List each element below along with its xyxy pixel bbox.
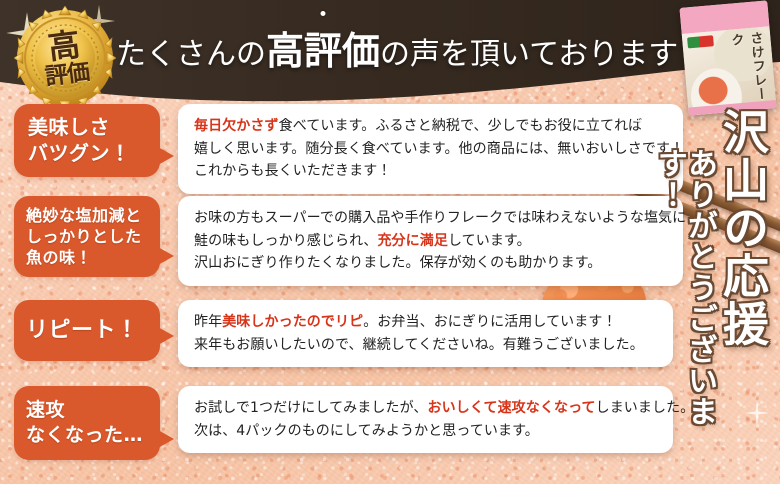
testimonial-line: 次は、4パックのものにしてみようかと思っています。 [194,420,659,443]
testimonial-row: 速攻 なくなった… お試しで1つだけにしてみましたが、おいしくて速攻なくなってし… [14,386,673,460]
testimonial-line: 沢山おにぎり作りたくなりました。保存が効くのも助かります。 [194,252,669,275]
testimonial-card: お試しで1つだけにしてみましたが、おいしくて速攻なくなってしまいました。 次は、… [178,386,673,453]
testimonial-text: これからも長くいただきます！ [194,163,391,179]
bubble-line: なくなった… [26,423,148,448]
testimonial-label-bubble: リピート！ [14,300,160,361]
testimonial-text: 鮭の味もしっかり感じられ、 [194,233,377,249]
testimonial-emphasis: 毎日欠かさず [194,118,279,134]
testimonial-card: 昨年美味しかったのでリピ。お弁当、おにぎりに活用しています！ 来年もお願いしたい… [178,300,673,367]
testimonial-text: 沢山おにぎり作りたくなりました。保存が効くのも助かります。 [194,255,602,271]
testimonial-row: 絶妙な塩加減と しっかりとした 魚の味！ お味の方もスーパーでの購入品や手作りフ… [14,196,683,286]
vertical-thanks-block: 沢山の応援 ありがとうございます！ [630,96,780,484]
testimonials-banner: 高 評価 たくさんの高評価の声を頂いております！ さけフレーク 美味しさ バツグ… [0,0,780,484]
testimonial-line: 嬉しく思います。随分長く食べています。他の商品には、無いおいしさです！ [194,138,669,161]
bubble-line: 魚の味！ [26,247,148,268]
bubble-line: 速攻 [26,398,148,423]
sparkle-icon [620,346,654,380]
testimonial-line: 来年もお願いしたいので、継続してくださいね。有難うございました。 [194,334,659,357]
testimonial-line: これからも長くいただきます！ [194,160,669,183]
testimonial-line: 鮭の味もしっかり感じられ、充分に満足しています。 [194,230,669,253]
testimonial-label-bubble: 絶妙な塩加減と しっかりとした 魚の味！ [14,196,160,277]
testimonial-line: お味の方もスーパーでの購入品や手作りフレークでは味わえないような塩気に [194,207,669,230]
bubble-line: しっかりとした [26,226,148,247]
testimonial-text: しています。 [448,233,531,249]
testimonial-emphasis: 美味しかったのでリピ [222,314,363,330]
testimonial-text: 来年もお願いしたいので、継続してくださいね。有難うございました。 [194,337,644,353]
testimonial-text: 食べています。ふるさと納税で、少しでもお役に立てれば [279,118,643,134]
testimonial-text: 昨年 [194,314,222,330]
testimonial-line: 昨年美味しかったのでリピ。お弁当、おにぎりに活用しています！ [194,311,659,334]
testimonial-emphasis: 充分に満足 [377,233,448,249]
testimonial-text: 嬉しく思います。随分長く食べています。他の商品には、無いおいしさです！ [194,141,684,157]
testimonial-line: お試しで1つだけにしてみましたが、おいしくて速攻なくなってしまいました。 [194,397,659,420]
bubble-line: 美味しさ [28,114,146,140]
testimonial-row: リピート！ 昨年美味しかったのでリピ。お弁当、おにぎりに活用しています！ 来年も… [14,300,673,367]
thanks-sub-text: ありがとうございます！ [654,148,714,484]
sparkle-icon [740,396,774,430]
testimonial-text: お味の方もスーパーでの購入品や手作りフレークでは味わえないような塩気に [194,210,686,226]
testimonial-emphasis: おいしくて速攻なくなって [428,400,596,416]
testimonial-card: 毎日欠かさず食べています。ふるさと納税で、少しでもお役に立てれば 嬉しく思います… [178,104,683,194]
testimonial-row: 美味しさ バツグン！ 毎日欠かさず食べています。ふるさと納税で、少しでもお役に立… [14,104,683,194]
testimonial-label-bubble: 美味しさ バツグン！ [14,104,160,177]
thanks-main-text: 沢山の応援 [720,108,766,348]
sparkle-icon [628,104,662,138]
testimonial-line: 毎日欠かさず食べています。ふるさと納税で、少しでもお役に立てれば [194,115,669,138]
bubble-line: 絶妙な塩加減と [26,205,148,226]
testimonial-text: 。お弁当、おにぎりに活用しています！ [363,314,616,330]
testimonial-text: お試しで1つだけにしてみましたが、 [194,400,428,416]
bubble-line: バツグン！ [28,140,146,166]
bubble-line: リピート！ [26,316,148,345]
testimonial-card: お味の方もスーパーでの購入品や手作りフレークでは味わえないような塩気に 鮭の味も… [178,196,683,286]
testimonial-label-bubble: 速攻 なくなった… [14,386,160,460]
testimonial-text: 次は、4パックのものにしてみようかと思っています。 [194,423,539,439]
